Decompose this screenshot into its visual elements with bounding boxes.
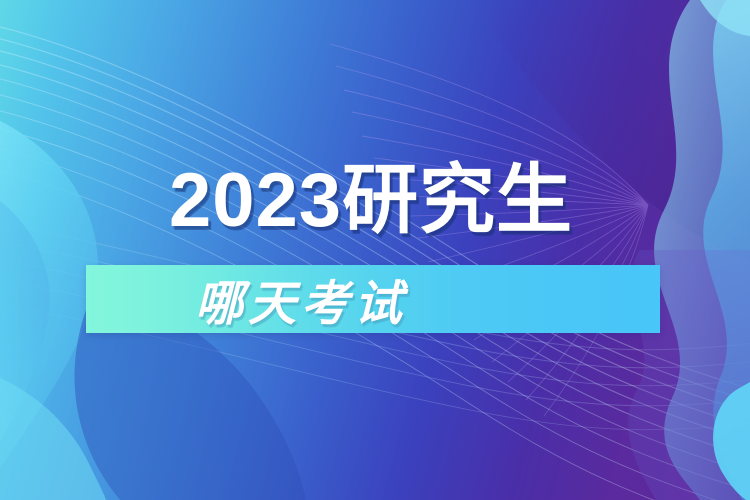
subtitle-text: 哪天考试 (86, 265, 516, 333)
wave-sliver-topright (700, 0, 750, 36)
title-block: 2023研究生 (0, 158, 750, 244)
background-gradient (0, 0, 750, 500)
wave-ribbon-right-accent (713, 382, 750, 500)
subtitle-banner: 哪天考试 (86, 265, 660, 333)
wave-shape-bottomleft (0, 360, 106, 500)
wave-ribbon-right-2 (703, 0, 750, 500)
page-title: 2023研究生 (169, 158, 573, 244)
wave-ribbon-right-1 (654, 0, 750, 500)
poster-canvas: 2023研究生 哪天考试 (0, 0, 750, 500)
wave-lines-topleft (0, 18, 750, 500)
background-decoration (0, 0, 750, 500)
